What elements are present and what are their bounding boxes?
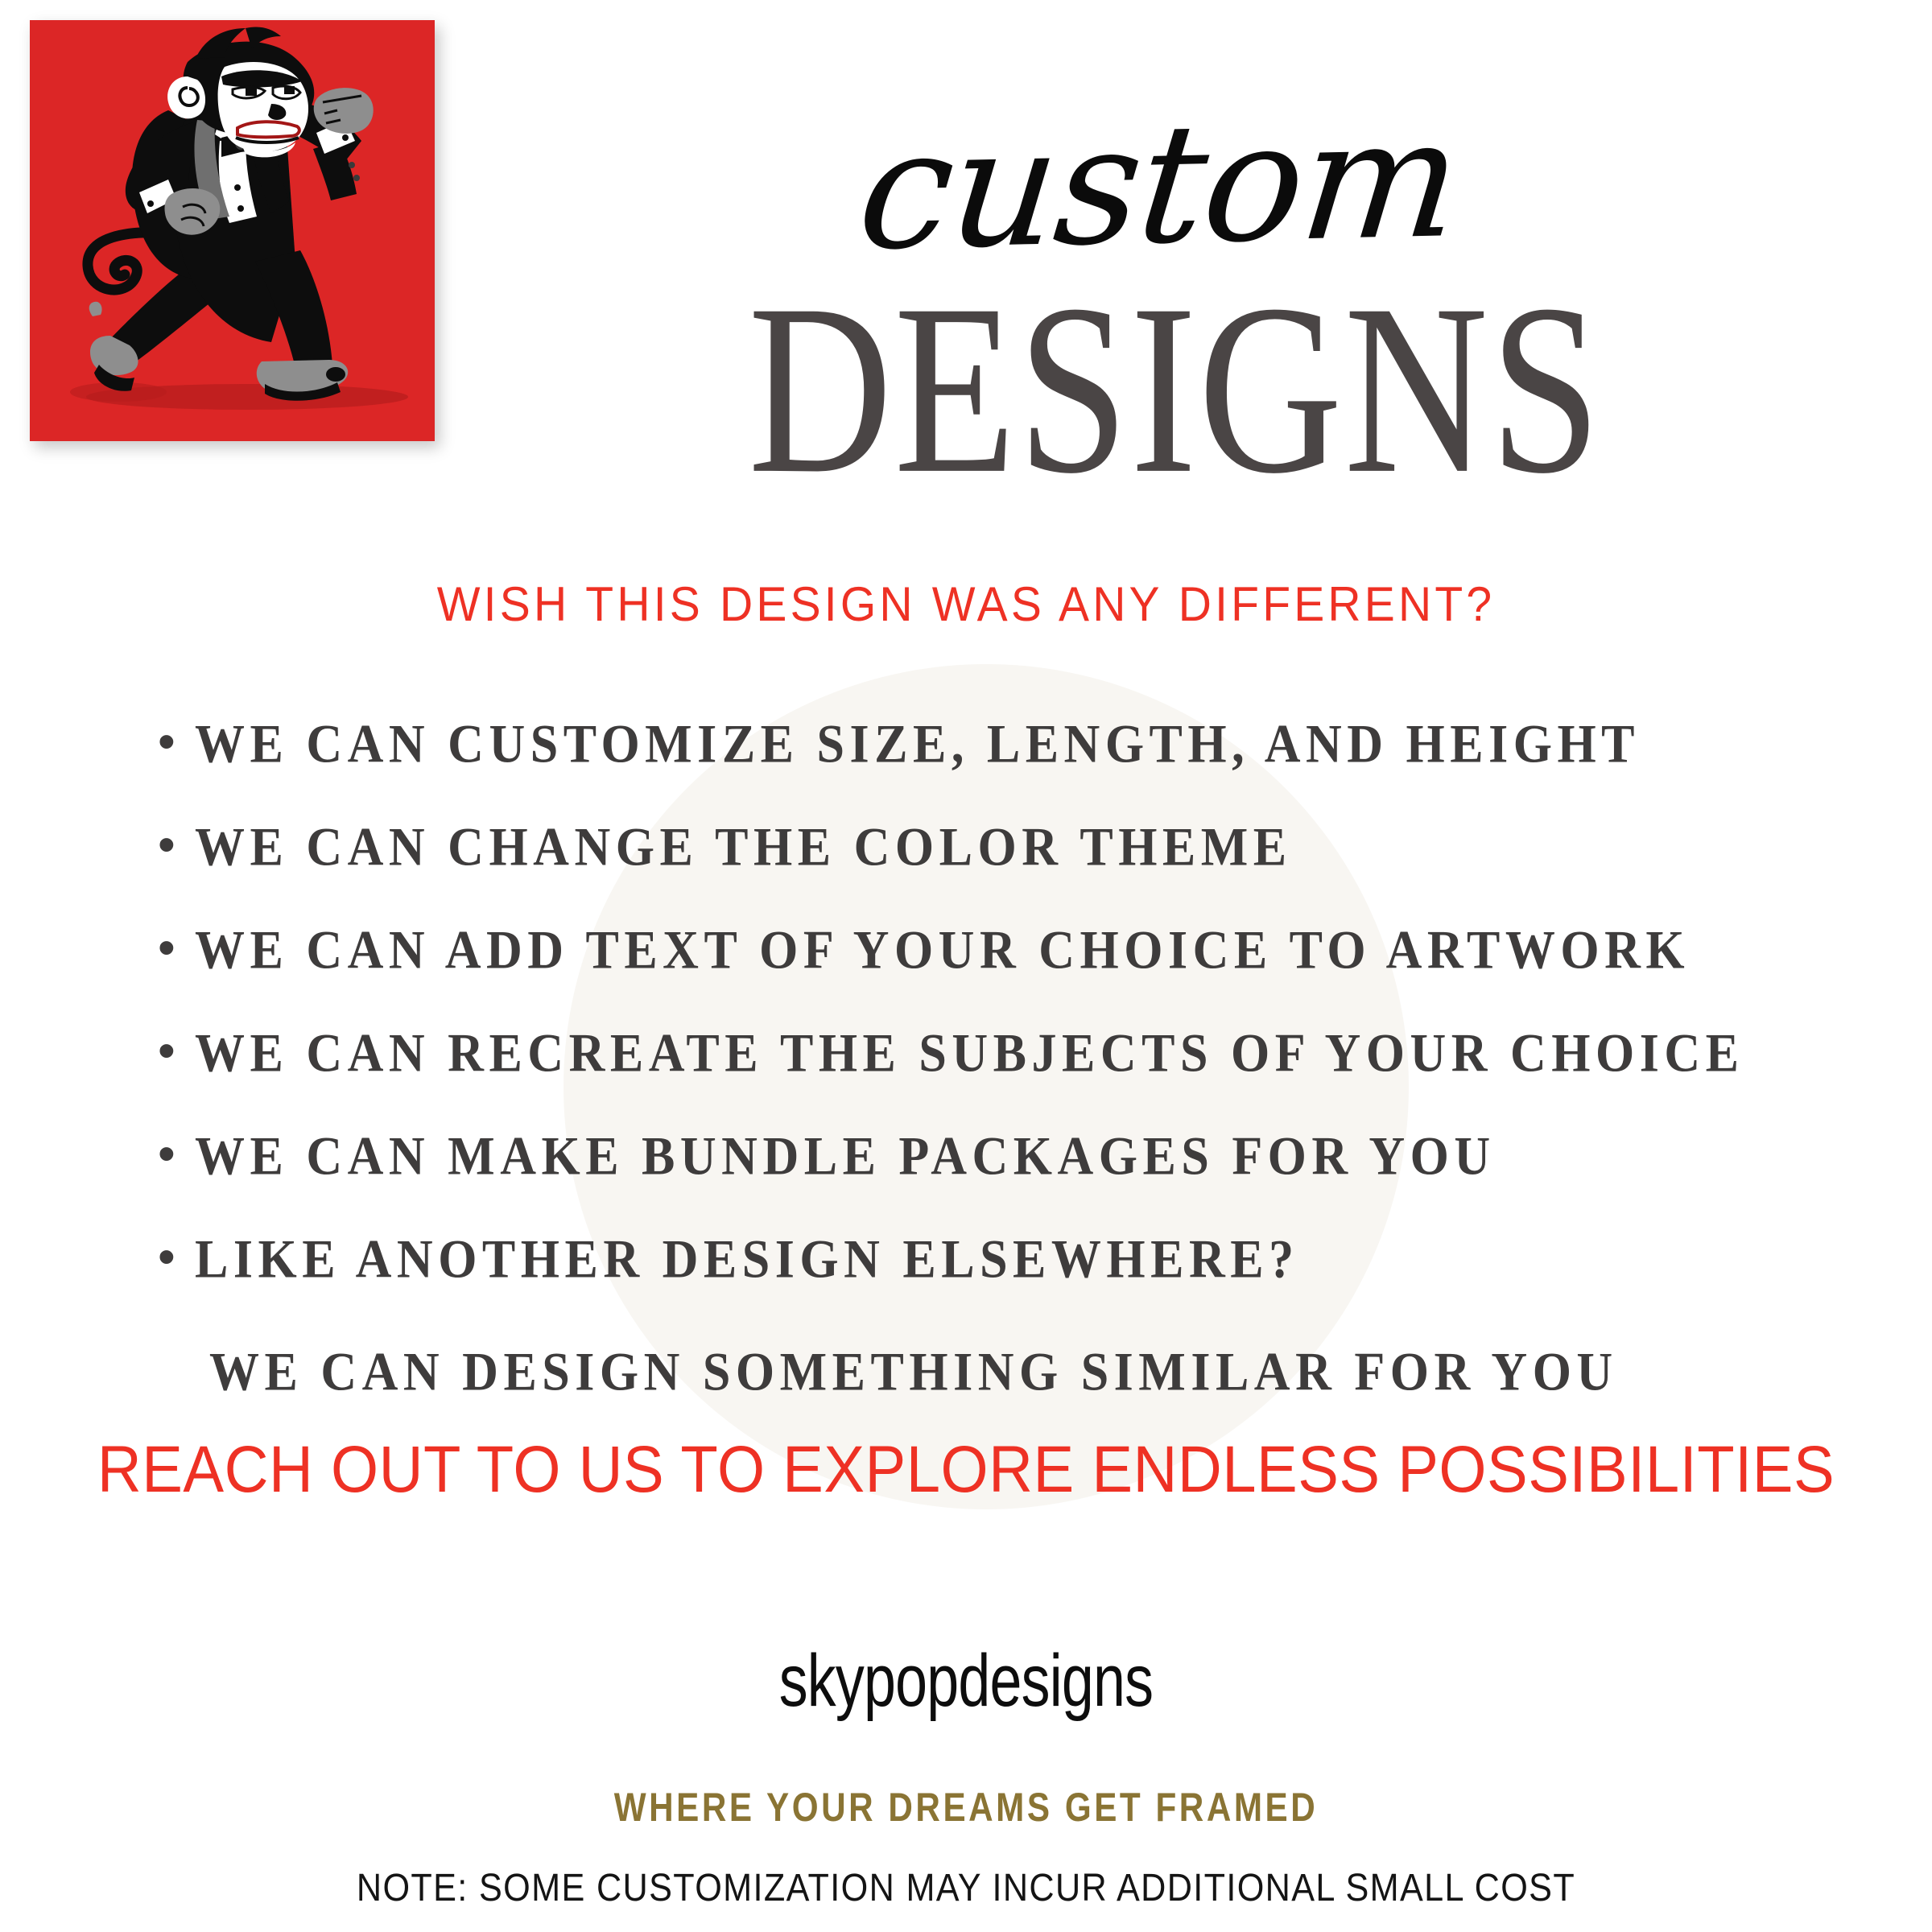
artwork-thumbnail[interactable]	[30, 20, 435, 441]
bullet-icon: •	[158, 1228, 195, 1286]
list-item-label: WE CAN CUSTOMIZE SIZE, LENGTH, AND HEIGH…	[195, 712, 1640, 776]
list-item: • WE CAN CUSTOMIZE SIZE, LENGTH, AND HEI…	[158, 712, 1848, 815]
list-item-continuation: WE CAN DESIGN SOMETHING SIMILAR FOR YOU	[209, 1340, 1848, 1404]
page-title-script: custom	[409, 89, 1910, 282]
page-title-main: DESIGNS	[451, 279, 1900, 498]
footer-note: NOTE: SOME CUSTOMIZATION MAY INCUR ADDIT…	[97, 1866, 1835, 1910]
list-item: • WE CAN MAKE BUNDLE PACKAGES FOR YOU	[158, 1125, 1848, 1228]
list-item: • LIKE ANOTHER DESIGN ELSEWHERE?	[158, 1228, 1848, 1331]
headline-block: custom DESIGNS	[451, 105, 1900, 459]
list-item: • WE CAN RECREATE THE SUBJECTS OF YOUR C…	[158, 1022, 1848, 1125]
gorilla-in-tuxedo-icon	[30, 20, 435, 441]
call-to-action-text: REACH OUT TO US TO EXPLORE ENDLESS POSSI…	[0, 1432, 1932, 1507]
bullet-icon: •	[158, 815, 195, 873]
feature-list: • WE CAN CUSTOMIZE SIZE, LENGTH, AND HEI…	[158, 712, 1848, 1398]
list-item-label: WE CAN RECREATE THE SUBJECTS OF YOUR CHO…	[195, 1022, 1744, 1085]
bullet-icon: •	[158, 712, 195, 770]
bullet-icon: •	[158, 919, 195, 976]
brand-tagline: WHERE YOUR DREAMS GET FRAMED	[116, 1785, 1816, 1831]
list-item: • WE CAN ADD TEXT OF YOUR CHOICE TO ARTW…	[158, 919, 1848, 1022]
bullet-icon: •	[158, 1125, 195, 1183]
bullet-icon: •	[158, 1022, 195, 1080]
brand-name: skypopdesigns	[213, 1639, 1719, 1724]
list-item-label: WE CAN MAKE BUNDLE PACKAGES FOR YOU	[195, 1125, 1496, 1188]
list-item-label: WE CAN ADD TEXT OF YOUR CHOICE TO ARTWOR…	[195, 919, 1690, 982]
list-item-label: LIKE ANOTHER DESIGN ELSEWHERE?	[195, 1228, 1299, 1291]
list-item-label: WE CAN CHANGE THE COLOR THEME	[195, 815, 1292, 879]
custom-designs-poster: custom DESIGNS WISH THIS DESIGN WAS ANY …	[0, 0, 1932, 1932]
list-item: • WE CAN CHANGE THE COLOR THEME	[158, 815, 1848, 919]
subtitle-question: WISH THIS DESIGN WAS ANY DIFFERENT?	[0, 576, 1932, 633]
